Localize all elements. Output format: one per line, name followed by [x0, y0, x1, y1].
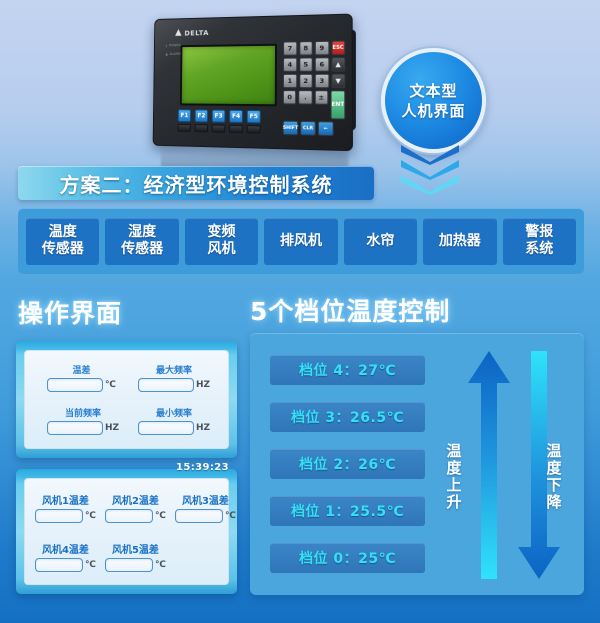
field-fan2-temp-diff: 风机2温差 ℃: [105, 492, 166, 523]
function-key-f3-slot: [212, 124, 226, 132]
field-temp-diff: 温差 ℃: [47, 363, 116, 392]
alarm-led-label: ALARM: [169, 52, 180, 56]
key-shift[interactable]: SHIFT: [283, 121, 298, 136]
delta-logo-icon: ▲: [175, 29, 181, 38]
solution-title-banner: 方案二：经济型环境控制系统: [18, 166, 374, 200]
chevron-down-stack: [399, 150, 461, 195]
field-fan2-temp-diff-input[interactable]: [105, 509, 153, 523]
function-key-f4[interactable]: F4: [229, 110, 243, 133]
alarm-led-icon: [166, 53, 168, 56]
function-key-f2-label: F2: [195, 109, 208, 122]
screen-inner-2: 风机1温差 ℃ 风机2温差 ℃ 风机3温差: [24, 478, 229, 585]
tag-temperature-sensor-line2: 传感器: [42, 241, 84, 258]
field-fan2-temp-diff-unit: ℃: [155, 511, 166, 521]
field-max-frequency-input[interactable]: [138, 378, 194, 392]
key-enter[interactable]: ENT: [330, 90, 345, 119]
field-max-frequency-unit: HZ: [196, 380, 210, 390]
field-fan1-temp-diff-input[interactable]: [35, 509, 83, 523]
poster-canvas: ▲ DELTA POWER ALARM F1: [0, 0, 600, 623]
field-min-frequency: 最小频率 HZ: [138, 406, 210, 435]
brand-label: DELTA: [184, 29, 209, 37]
hmi-lcd-screen: [180, 44, 277, 107]
field-fan1-temp-diff: 风机1温差 ℃: [35, 492, 96, 523]
field-temp-diff-label: 温差: [47, 363, 116, 376]
temperature-fall-label: 温度下降: [546, 443, 562, 511]
key-1[interactable]: 1: [283, 74, 297, 88]
key-backspace[interactable]: ←: [318, 121, 334, 136]
arrow-up-icon[interactable]: ▲: [331, 57, 345, 72]
tag-temperature-sensor-line1: 温度: [42, 224, 84, 241]
function-key-f4-label: F4: [229, 110, 243, 123]
field-current-frequency-unit: HZ: [105, 423, 119, 433]
tag-water-curtain-line1: 水帘: [366, 233, 394, 250]
keypad-row-3: 1 2 3 ▼: [283, 74, 345, 89]
level-bar-3[interactable]: 档位 3：26.5℃: [270, 402, 425, 432]
tag-vfd-fan[interactable]: 变频 风机: [185, 218, 258, 265]
key-0[interactable]: 0: [283, 90, 297, 104]
function-key-f3-label: F3: [212, 110, 226, 123]
badge-line-1: 文本型: [409, 81, 457, 101]
field-current-frequency-label: 当前频率: [47, 406, 119, 419]
field-fan4-temp-diff-label: 风机4温差: [35, 541, 96, 556]
keypad-row-2: 4 5 6 ▲: [283, 57, 345, 72]
key-dot[interactable]: .: [299, 90, 313, 104]
field-fan3-temp-diff-unit: ℃: [225, 511, 236, 521]
field-temp-diff-input[interactable]: [47, 378, 103, 392]
temperature-rise-arrow-icon: [468, 351, 510, 579]
tag-vfd-fan-line2: 风机: [208, 241, 236, 258]
operation-screen-panel-2: 15:39:23 风机1温差 ℃ 风机2温差 ℃: [16, 469, 237, 594]
keypad-row-1: 7 8 9 ESC: [283, 41, 345, 56]
key-5[interactable]: 5: [299, 57, 313, 71]
hmi-front-body: ▲ DELTA POWER ALARM F1: [153, 14, 353, 152]
function-key-f5-slot: [247, 125, 261, 133]
level-bar-2[interactable]: 档位 2：26℃: [270, 449, 425, 479]
temperature-rise-label: 温度上升: [446, 443, 462, 511]
tag-exhaust-fan[interactable]: 排风机: [264, 218, 337, 265]
function-key-f2[interactable]: F2: [195, 109, 209, 132]
hmi-type-badge: 文本型 人机界面: [381, 48, 486, 153]
field-fan5-temp-diff-unit: ℃: [155, 560, 166, 570]
key-2[interactable]: 2: [299, 74, 313, 88]
level-bar-4[interactable]: 档位 4：27℃: [270, 355, 425, 385]
hmi-device: ▲ DELTA POWER ALARM F1: [148, 16, 363, 158]
tag-humidity-sensor[interactable]: 湿度 传感器: [105, 218, 178, 265]
field-fan4-temp-diff-input[interactable]: [35, 558, 83, 572]
tag-vfd-fan-line1: 变频: [208, 224, 236, 241]
field-fan1-temp-diff-unit: ℃: [85, 511, 96, 521]
field-max-frequency: 最大频率 HZ: [138, 363, 210, 392]
field-fan3-temp-diff: 风机3温差 ℃: [175, 492, 236, 523]
operation-interface-heading: 操作界面: [18, 294, 122, 330]
tag-temperature-sensor[interactable]: 温度 传感器: [26, 218, 99, 265]
field-fan3-temp-diff-input[interactable]: [175, 509, 223, 523]
function-key-f5-label: F5: [247, 110, 261, 123]
power-led-icon: [166, 44, 167, 47]
key-3[interactable]: 3: [315, 74, 329, 88]
level-bar-0[interactable]: 档位 0：25℃: [270, 543, 425, 573]
field-min-frequency-label: 最小频率: [138, 406, 210, 419]
arrow-down-icon[interactable]: ▼: [331, 74, 345, 89]
function-key-f1-slot: [178, 124, 191, 132]
tag-water-curtain[interactable]: 水帘: [344, 218, 417, 265]
tag-exhaust-fan-line1: 排风机: [280, 233, 322, 250]
field-fan1-temp-diff-label: 风机1温差: [35, 492, 96, 507]
chevron-down-icon: [399, 173, 461, 195]
field-min-frequency-input[interactable]: [138, 421, 194, 435]
function-key-f1-label: F1: [178, 109, 191, 122]
field-fan5-temp-diff-input[interactable]: [105, 558, 153, 572]
screen-inner-1: 温差 ℃ 最大频率 HZ 当前频率: [24, 350, 229, 449]
keypad-row-5: SHIFT CLR ←: [283, 121, 346, 137]
field-temp-diff-unit: ℃: [105, 380, 116, 390]
function-key-f5[interactable]: F5: [247, 110, 261, 133]
key-7[interactable]: 7: [283, 41, 297, 55]
tag-humidity-sensor-line1: 湿度: [121, 224, 163, 241]
component-tag-bar: 温度 传感器 湿度 传感器 变频 风机 排风机 水帘: [18, 208, 584, 274]
field-max-frequency-label: 最大频率: [138, 363, 210, 376]
field-fan5-temp-diff: 风机5温差 ℃: [105, 541, 166, 572]
power-led-row: POWER: [166, 43, 181, 47]
key-8[interactable]: 8: [299, 41, 313, 55]
key-6[interactable]: 6: [315, 57, 329, 71]
clock-display: 15:39:23: [176, 462, 229, 473]
tag-heater-line1: 加热器: [439, 233, 481, 250]
function-key-f4-slot: [229, 125, 243, 133]
key-9[interactable]: 9: [315, 41, 329, 56]
tag-heater[interactable]: 加热器: [423, 218, 496, 265]
key-clr[interactable]: CLR: [300, 121, 316, 136]
key-esc[interactable]: ESC: [331, 41, 345, 56]
numeric-keypad: 7 8 9 ESC 4 5 6 ▲ 1 2 3: [283, 41, 346, 139]
level-bar-1[interactable]: 档位 1：25.5℃: [270, 496, 425, 526]
field-fan2-temp-diff-label: 风机2温差: [105, 492, 166, 507]
field-current-frequency-input[interactable]: [47, 421, 103, 435]
tag-alarm-system-line2: 系统: [525, 241, 553, 258]
badge-line-2: 人机界面: [401, 101, 465, 121]
field-fan3-temp-diff-label: 风机3温差: [175, 492, 236, 507]
solution-title-text: 方案二：经济型环境控制系统: [60, 169, 333, 198]
power-led-label: POWER: [169, 43, 181, 47]
field-min-frequency-unit: HZ: [196, 423, 210, 433]
tag-alarm-system-line1: 警报: [525, 224, 553, 241]
field-fan4-temp-diff-unit: ℃: [85, 560, 96, 570]
temperature-levels-panel: 档位 4：27℃ 档位 3：26.5℃ 档位 2：26℃ 档位 1：25.5℃ …: [250, 333, 584, 595]
keypad-row-4: 0 . ± ENT: [283, 90, 346, 119]
operation-screen-panel-1: 温差 ℃ 最大频率 HZ 当前频率: [16, 341, 237, 458]
status-led-group: POWER ALARM: [166, 43, 181, 61]
field-fan4-temp-diff: 风机4温差 ℃: [35, 541, 96, 572]
field-fan5-temp-diff-label: 风机5温差: [105, 541, 166, 556]
five-level-control-heading: 5个档位温度控制: [250, 292, 450, 328]
tag-humidity-sensor-line2: 传感器: [121, 241, 163, 258]
field-current-frequency: 当前频率 HZ: [47, 406, 119, 435]
function-key-f1[interactable]: F1: [178, 109, 191, 132]
function-key-f3[interactable]: F3: [212, 110, 226, 133]
alarm-led-row: ALARM: [166, 52, 181, 56]
key-plus-minus[interactable]: ±: [314, 90, 328, 105]
tag-alarm-system[interactable]: 警报 系统: [503, 218, 576, 265]
key-4[interactable]: 4: [283, 58, 297, 72]
function-key-row: F1 F2 F3 F4: [178, 109, 261, 133]
function-key-f2-slot: [195, 124, 208, 132]
